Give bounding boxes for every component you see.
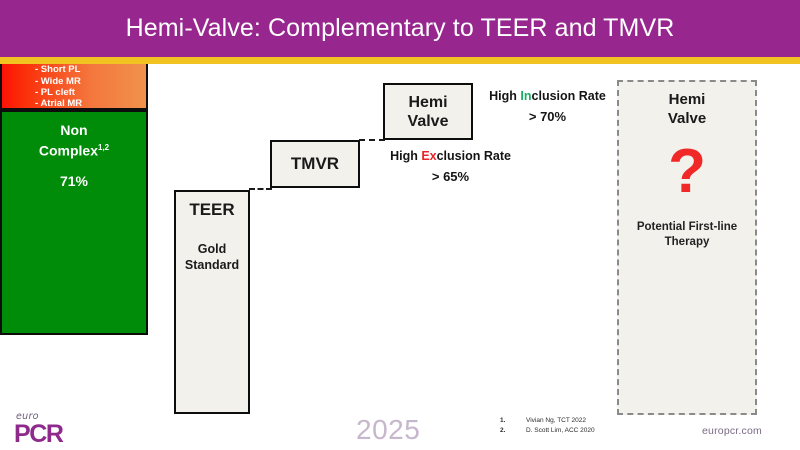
footnote-number: 1.	[500, 416, 526, 426]
list-item: - PL cleft	[35, 87, 113, 98]
hemi-valve-future-subtitle: Potential First-line Therapy	[619, 220, 755, 250]
question-mark-icon: ?	[619, 144, 755, 200]
teer-subtitle-line1: Gold	[198, 242, 226, 256]
footnote-item: 2. D. Scott Lim, ACC 2020	[500, 426, 680, 436]
hemi-valve-future-title-line1: Hemi	[669, 91, 706, 108]
hemi-valve-future-subtitle-line2: Therapy	[665, 236, 710, 248]
list-item: - Wide MR	[35, 76, 113, 87]
list-item: - Atrial MR	[35, 98, 113, 109]
inclusion-rate-value: > 70%	[480, 108, 615, 125]
footnote-text: D. Scott Lim, ACC 2020	[526, 426, 680, 436]
teer-subtitle-line2: Standard	[185, 258, 239, 272]
list-item: - Short PL	[35, 64, 113, 75]
exclusion-prefix: High	[390, 149, 421, 163]
hemi-valve-title-line2: Valve	[408, 113, 449, 130]
teer-subtitle: Gold Standard	[176, 241, 248, 273]
exclusion-highlight: Ex	[421, 149, 436, 163]
non-complex-label-line1: Non	[60, 122, 87, 138]
inclusion-rate-annotation: High Inclusion Rate > 70%	[480, 88, 615, 125]
exclusion-rate-value: > 65%	[378, 168, 523, 185]
exclusion-suffix: clusion Rate	[437, 149, 511, 163]
footnote-text: Vivian Ng, TCT 2022	[526, 416, 680, 426]
inclusion-prefix: High	[489, 89, 520, 103]
non-complex-label-line2: Complex	[39, 143, 98, 159]
footnote-list: 1. Vivian Ng, TCT 2022 2. D. Scott Lim, …	[500, 416, 680, 435]
hemi-valve-title: Hemi Valve	[385, 93, 471, 131]
hemi-valve-box: Hemi Valve	[383, 83, 473, 140]
connector-teer-tmvr	[249, 188, 272, 190]
inclusion-highlight: In	[520, 89, 531, 103]
page-title: Hemi-Valve: Complementary to TEER and TM…	[126, 14, 675, 43]
logo-pcr-text: PCR	[14, 422, 94, 446]
footnote-number: 2.	[500, 426, 526, 436]
year-label: 2025	[356, 414, 420, 446]
exclusion-rate-annotation: High Exclusion Rate > 65%	[378, 148, 523, 185]
hemi-valve-future-title: Hemi Valve	[619, 90, 755, 128]
hemi-valve-title-line1: Hemi	[408, 94, 447, 111]
hemi-valve-future-subtitle-line1: Potential First-line	[637, 221, 737, 233]
connector-tmvr-hemi-valve	[359, 139, 385, 141]
gold-accent-stripe	[0, 57, 800, 64]
non-complex-label: Non Complex1,2	[2, 122, 146, 160]
hemi-valve-future-panel: Hemi Valve ? Potential First-line Therap…	[617, 80, 757, 415]
non-complex-population-box: Non Complex1,2 71%	[0, 110, 148, 335]
europcr-logo: euro PCR	[14, 412, 94, 446]
site-url-label: europcr.com	[702, 425, 762, 437]
tmvr-box: TMVR	[270, 140, 360, 188]
exclusion-rate-label: High Exclusion Rate	[378, 148, 523, 164]
tmvr-title: TMVR	[272, 154, 358, 174]
footnote-item: 1. Vivian Ng, TCT 2022	[500, 416, 680, 426]
slide-title-bar: Hemi-Valve: Complementary to TEER and TM…	[0, 0, 800, 57]
teer-title: TEER	[176, 200, 248, 220]
teer-box: TEER Gold Standard	[174, 190, 250, 414]
hemi-valve-future-title-line2: Valve	[668, 110, 706, 127]
inclusion-suffix: clusion Rate	[532, 89, 606, 103]
non-complex-percent: 71%	[2, 173, 146, 189]
non-complex-superscript: 1,2	[98, 143, 109, 152]
inclusion-rate-label: High Inclusion Rate	[480, 88, 615, 104]
